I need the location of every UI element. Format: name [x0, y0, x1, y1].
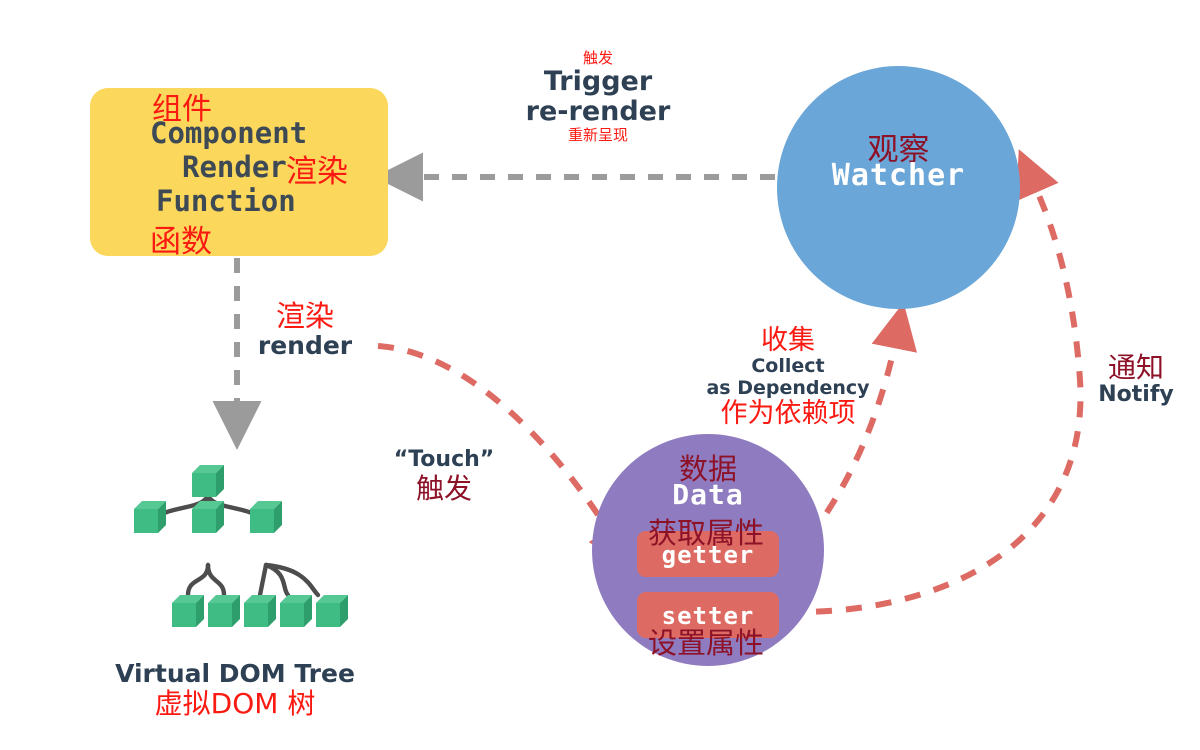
getter-cn-label: 获取属性	[648, 510, 764, 552]
collect-en-line1: Collect	[700, 356, 876, 377]
setter-cn-label: 设置属性	[648, 620, 764, 662]
notify-cn: 通知	[1084, 352, 1188, 383]
collect-en-line2: as Dependency	[700, 378, 876, 399]
component-render-function-box[interactable]: 组件 Component Render 渲染 Function 函数	[90, 88, 388, 256]
virtual-dom-tree-caption: Virtual DOM Tree 虚拟DOM 树	[104, 660, 366, 719]
vdom-cn-label: 虚拟DOM 树	[104, 688, 366, 719]
tree-cube	[134, 465, 348, 627]
function-cn-label: 函数	[150, 216, 212, 261]
trigger-cn-bottom: 重新呈现	[478, 127, 718, 144]
function-en-label: Function	[156, 184, 296, 218]
touch-edge-label: “Touch” 触发	[378, 448, 510, 504]
collect-cn-top: 收集	[700, 326, 876, 356]
collect-cn-bottom: 作为依赖项	[700, 399, 876, 429]
trigger-en-line2: re-render	[478, 97, 718, 127]
render-edge-en: render	[240, 332, 370, 360]
notify-en: Notify	[1084, 383, 1188, 408]
render-edge-label: 渲染 render	[240, 300, 370, 360]
touch-edge-cn: 触发	[378, 473, 510, 504]
watcher-en-label: Watcher	[777, 158, 1020, 193]
component-en-label: Component	[150, 116, 307, 150]
collect-dependency-label: 收集 Collect as Dependency 作为依赖项	[700, 326, 876, 429]
render-edge-cn: 渲染	[240, 300, 370, 332]
touch-edge-en: “Touch”	[378, 448, 510, 473]
watcher-node[interactable]: 观察 Watcher	[777, 66, 1020, 309]
diagram-canvas: 组件 Component Render 渲染 Function 函数 观察 Wa…	[0, 0, 1200, 750]
arrow-touch-to-getter	[378, 346, 618, 546]
vdom-en-label: Virtual DOM Tree	[104, 660, 366, 688]
virtual-dom-tree-graphic	[110, 455, 360, 640]
component-box-text: 组件 Component Render 渲染 Function 函数	[90, 88, 388, 256]
render-en-label: Render	[182, 150, 287, 184]
data-en-label: Data	[592, 478, 824, 511]
trigger-cn-top: 触发	[478, 50, 718, 67]
notify-edge-label: 通知 Notify	[1084, 352, 1188, 408]
trigger-re-render-label: 触发 Trigger re-render 重新呈现	[478, 50, 718, 144]
trigger-en-line1: Trigger	[478, 67, 718, 97]
